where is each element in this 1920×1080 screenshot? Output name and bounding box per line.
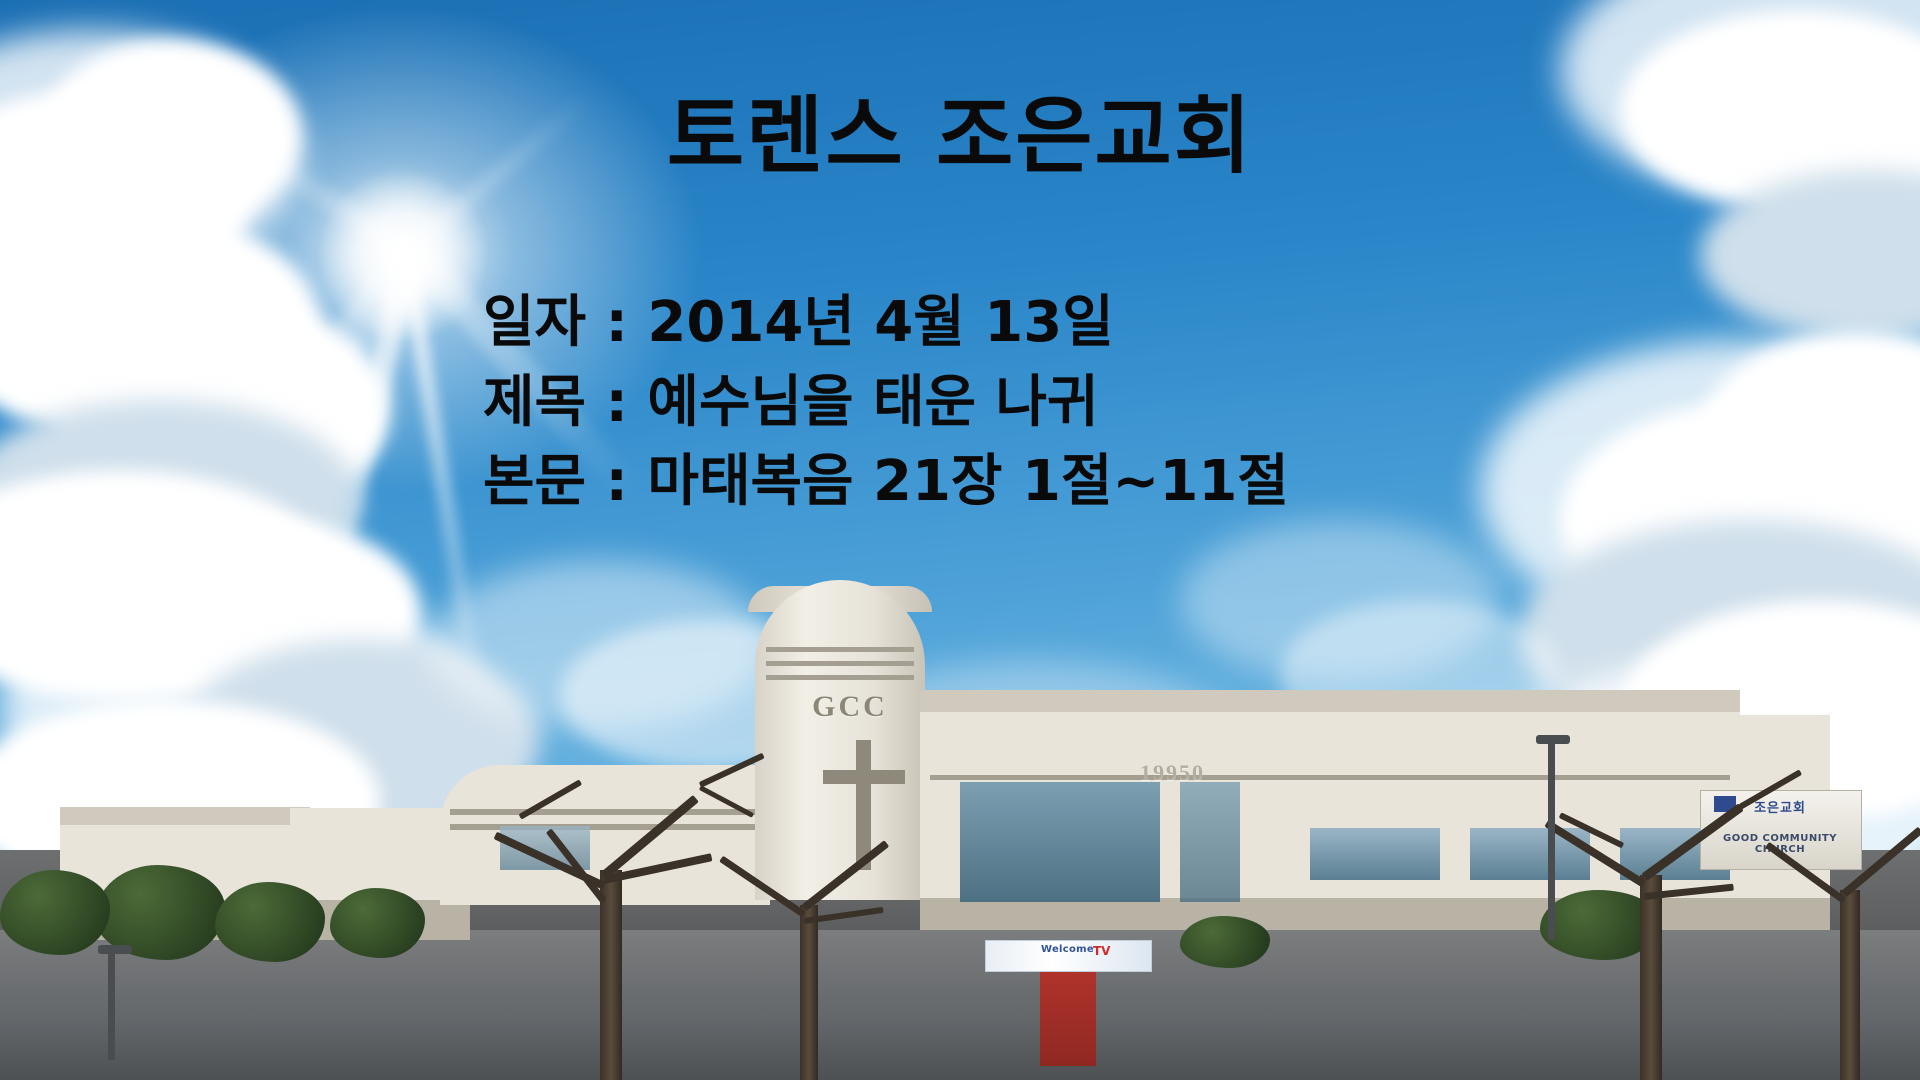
- info-line-subject: 제목 : 예수님을 태운 나귀: [483, 363, 1583, 443]
- welcome-banner-text: Welcome: [990, 944, 1145, 955]
- building-address-number: 19950: [1140, 760, 1205, 786]
- gcc-logo-text: GCC: [800, 690, 900, 724]
- banner-accent-text: TV: [1093, 944, 1110, 958]
- info-line-passage: 본문 : 마태복음 21장 1절~11절: [483, 442, 1583, 522]
- tower: [755, 580, 925, 900]
- cross-icon: [856, 740, 871, 870]
- info-block: 일자 : 2014년 4월 13일 제목 : 예수님을 태운 나귀 본문 : 마…: [483, 283, 1583, 522]
- info-line-date: 일자 : 2014년 4월 13일: [483, 283, 1583, 363]
- cross-icon: [823, 770, 905, 784]
- page-title: 토렌스 조은교회: [0, 92, 1920, 180]
- slide: GCC 19950 조은교회 GOOD COMMUNITY CHURCH Wel…: [0, 0, 1920, 1080]
